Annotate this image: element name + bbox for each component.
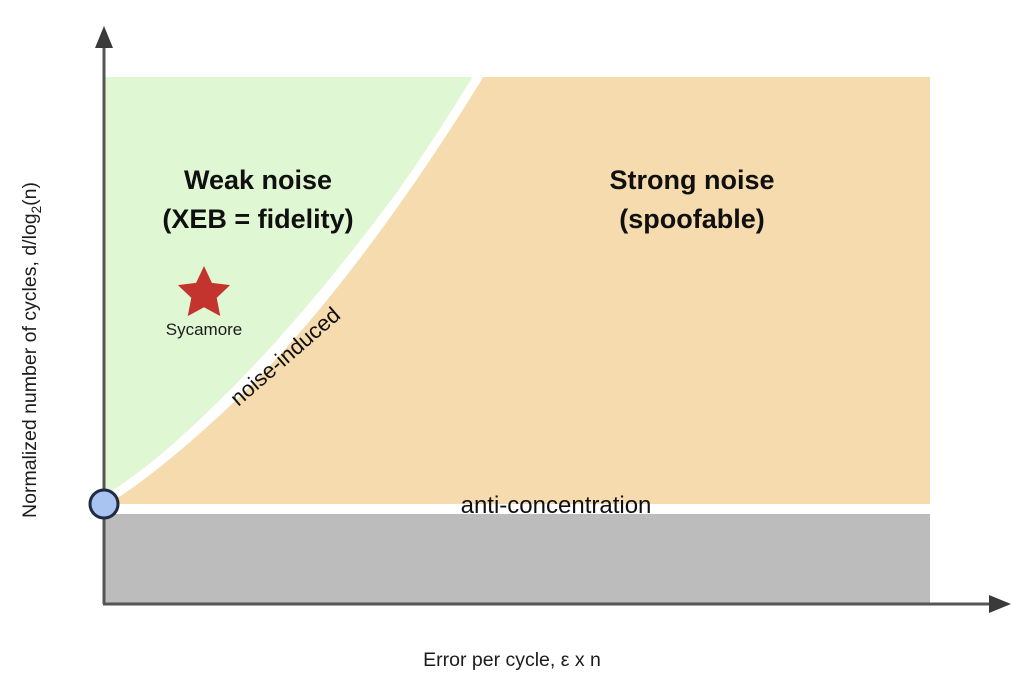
- circle-icon: [90, 490, 118, 518]
- y-axis-label: Normalized number of cycles, d/log2(n): [19, 182, 44, 518]
- weak-noise-title-line2: (XEB = fidelity): [162, 204, 353, 234]
- y-axis-arrow-icon: [95, 26, 113, 48]
- x-axis-arrow-icon: [989, 595, 1011, 613]
- x-axis-label: Error per cycle, ε x n: [423, 649, 601, 671]
- strong-noise-title-line1: Strong noise: [609, 165, 774, 195]
- anti-concentration-label: anti-concentration: [461, 492, 652, 519]
- y-axis-label-subscript: 2: [29, 206, 44, 214]
- strong-noise-title-line2: (spoofable): [619, 204, 765, 234]
- y-axis-label-main: Normalized number of cycles, d/log: [19, 213, 41, 518]
- phase-diagram: Weak noise (XEB = fidelity) Strong noise…: [0, 0, 1024, 691]
- y-axis-label-tail: (n): [19, 182, 41, 206]
- weak-noise-title-line1: Weak noise: [184, 165, 332, 195]
- sycamore-label: Sycamore: [166, 320, 243, 339]
- anti-concentration-band: [103, 514, 930, 604]
